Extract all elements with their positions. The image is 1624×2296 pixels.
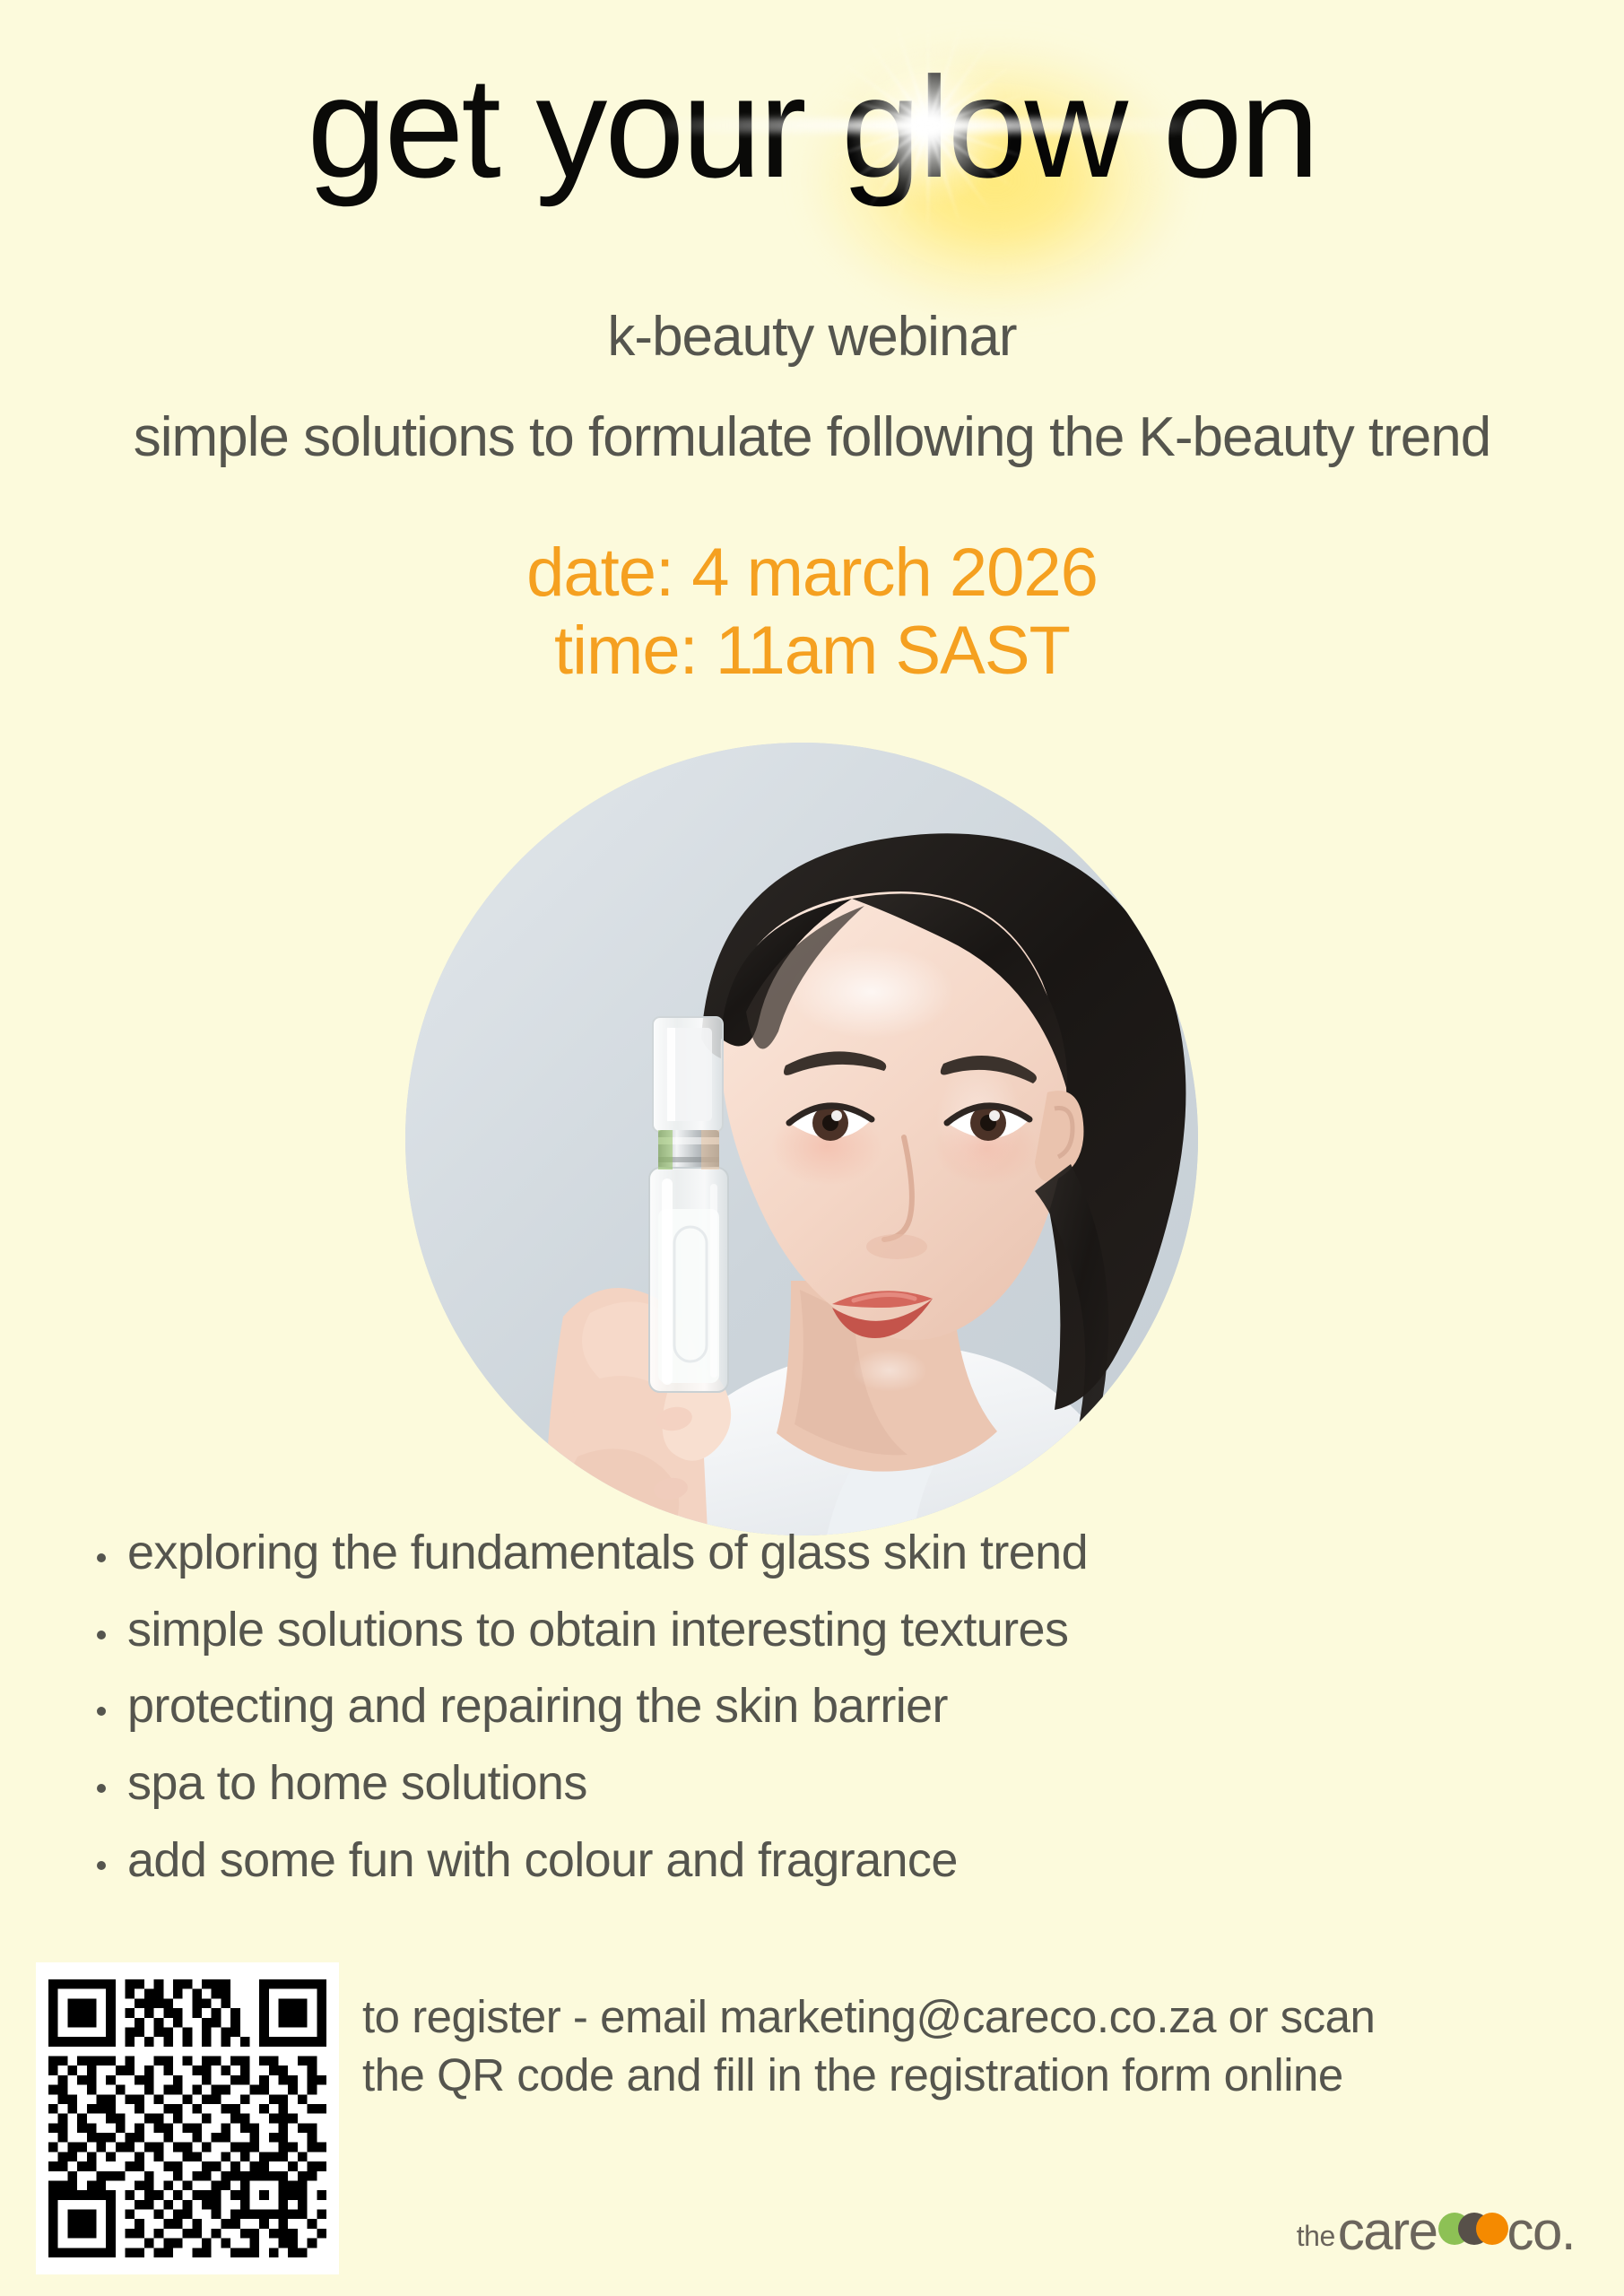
registration-instructions: to register - email marketing@careco.co.… <box>362 1987 1582 2105</box>
list-item: spa to home solutions <box>90 1755 1345 1812</box>
subtitle: k-beauty webinar <box>0 305 1624 369</box>
headline-block: get your glow on <box>0 56 1624 262</box>
logo-dot-orange <box>1476 2213 1508 2245</box>
list-item: simple solutions to obtain interesting t… <box>90 1602 1345 1658</box>
page-title: get your glow on <box>0 56 1624 199</box>
poster-canvas: get your glow on k-beauty webinar simple… <box>0 0 1624 2296</box>
list-item: exploring the fundamentals of glass skin… <box>90 1525 1345 1581</box>
hero-photo-illustration <box>405 743 1198 1535</box>
event-time: time: 11am SAST <box>0 613 1624 691</box>
registration-line-2: the QR code and fill in the registration… <box>362 2046 1582 2104</box>
registration-line-1: to register - email marketing@careco.co.… <box>362 1987 1582 2046</box>
headline-highlight-glow: glow <box>841 47 1125 207</box>
event-date: date: 4 march 2026 <box>0 535 1624 613</box>
logo-dots-icon <box>1438 2213 1505 2248</box>
event-details: date: 4 march 2026 time: 11am SAST <box>0 535 1624 690</box>
qr-code-icon <box>48 1979 326 2257</box>
tagline: simple solutions to formulate following … <box>0 405 1624 469</box>
list-item: add some fun with colour and fragrance <box>90 1832 1345 1889</box>
brand-logo: the care co. <box>1255 2199 1575 2262</box>
hero-photo <box>405 743 1198 1535</box>
logo-the: the <box>1297 2220 1335 2253</box>
logo-co: co. <box>1507 2200 1575 2262</box>
topics-list: exploring the fundamentals of glass skin… <box>90 1525 1345 1909</box>
qr-code[interactable] <box>36 1962 339 2274</box>
headline-part-1: get your <box>307 47 841 207</box>
list-item: protecting and repairing the skin barrie… <box>90 1678 1345 1735</box>
logo-care: care <box>1338 2200 1437 2262</box>
headline-part-2: on <box>1125 47 1316 207</box>
